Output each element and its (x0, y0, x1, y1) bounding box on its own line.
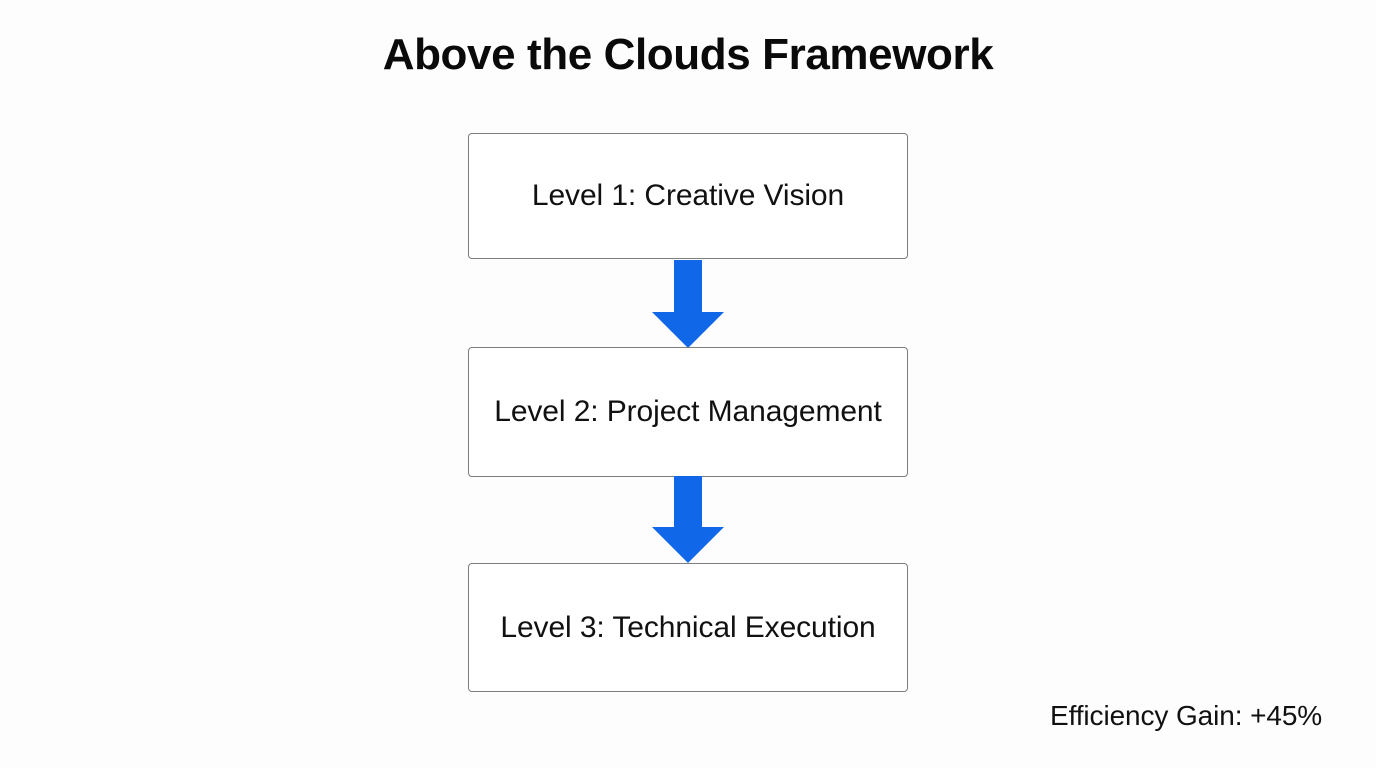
flow-box-level-2[interactable]: Level 2: Project Management (468, 347, 908, 477)
efficiency-gain-note: Efficiency Gain: +45% (1050, 700, 1322, 732)
flow-box-level-3[interactable]: Level 3: Technical Execution (468, 563, 908, 692)
flow-box-level-1-label: Level 1: Creative Vision (532, 179, 844, 213)
flow-box-level-3-label: Level 3: Technical Execution (500, 611, 875, 645)
page-title: Above the Clouds Framework (0, 32, 1376, 78)
flow-box-level-1[interactable]: Level 1: Creative Vision (468, 133, 908, 259)
arrow-down-icon-level-2-to-3 (652, 476, 724, 563)
flow-box-level-2-label: Level 2: Project Management (494, 395, 882, 429)
slide-canvas: Above the Clouds Framework Level 1: Crea… (0, 0, 1376, 768)
arrow-down-icon-level-1-to-2 (652, 260, 724, 348)
